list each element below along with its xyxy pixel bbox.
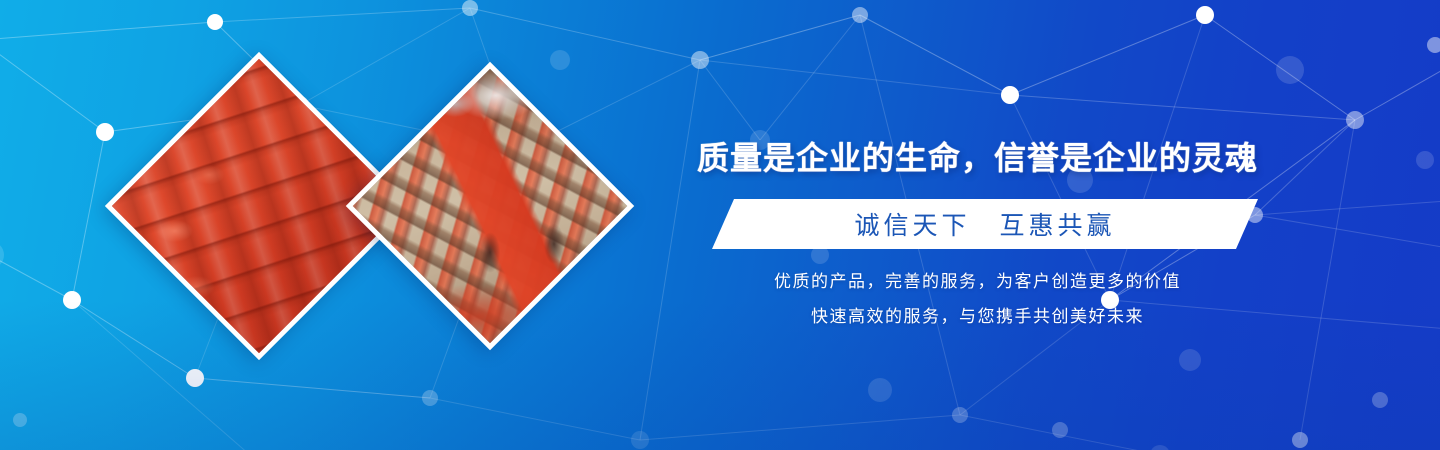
banner-subline-1: 优质的产品，完善的服务，为客户创造更多的价值	[690, 267, 1265, 292]
promo-banner: 质量是企业的生命，信誉是企业的灵魂 诚信天下 互惠共赢 优质的产品，完善的服务，…	[0, 0, 1440, 450]
banner-subline-2: 快速高效的服务，与您携手共创美好未来	[690, 302, 1265, 327]
banner-copy: 质量是企业的生命，信誉是企业的灵魂 诚信天下 互惠共赢 优质的产品，完善的服务，…	[0, 0, 1440, 450]
banner-headline: 质量是企业的生命，信誉是企业的灵魂	[690, 136, 1265, 180]
slogan-ribbon: 诚信天下 互惠共赢	[712, 199, 1258, 249]
slogan-ribbon-text: 诚信天下 互惠共赢	[712, 199, 1258, 249]
